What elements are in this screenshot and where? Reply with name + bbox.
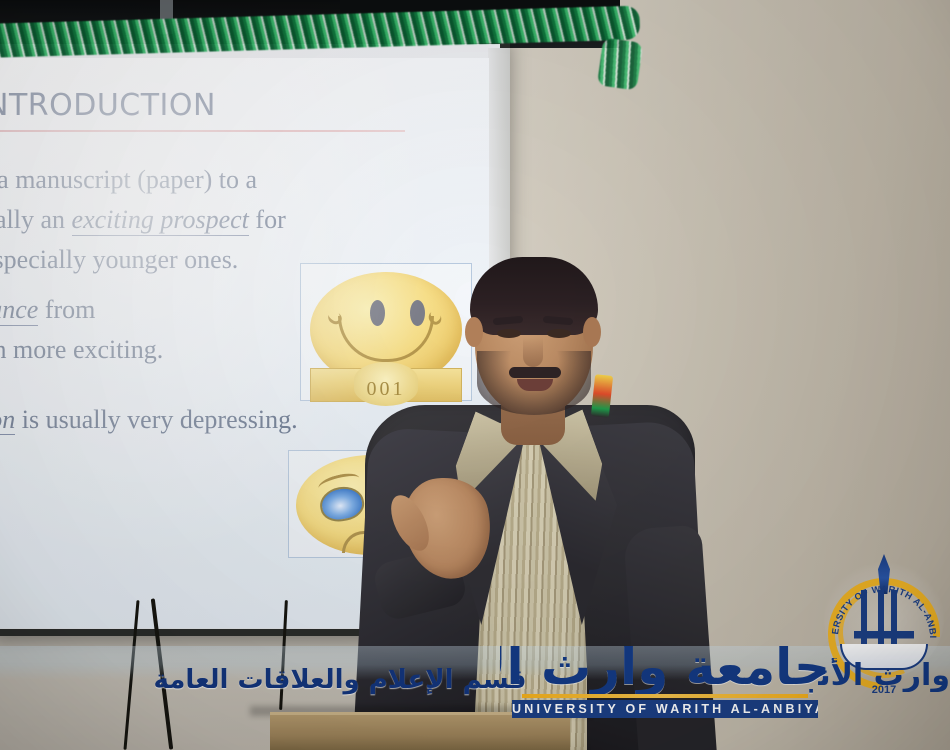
moustache — [509, 367, 561, 378]
hair — [470, 257, 598, 335]
presentation-photo: NTRODUCTION f a manuscript (paper) to a … — [0, 0, 950, 750]
emblem-curved-label: UNIVERSITY OF WARITH AL-ANBIYAA — [828, 576, 938, 639]
left-ear — [465, 317, 483, 347]
slide-line-2-italic: exciting prospect — [72, 205, 249, 236]
slide-line-1: f a manuscript (paper) to a — [0, 160, 442, 200]
university-name-english: UNIVERSITY OF WARITH AL-ANBIYAA — [512, 700, 818, 718]
slide-depress-italic: ion — [0, 405, 15, 435]
slide-line-4-tail: from — [38, 295, 95, 324]
right-ear — [583, 317, 601, 347]
slide-line-4-italic: tance — [0, 295, 38, 326]
svg-text:UNIVERSITY OF WARITH AL-ANBIYA: UNIVERSITY OF WARITH AL-ANBIYAA — [828, 576, 938, 639]
slide-title-underline — [0, 130, 405, 132]
department-caption: قسم الإعلام والعلاقات العامة — [130, 665, 550, 705]
university-emblem: UNIVERSITY OF WARITH AL-ANBIYAA وارث الأ… — [818, 552, 950, 692]
tinsel-garland-tail — [597, 37, 643, 90]
emblem-founded-year: 2017 — [856, 684, 912, 696]
slide-title: NTRODUCTION — [0, 88, 286, 123]
slide-line-2: ually an exciting prospect for — [0, 200, 442, 240]
university-logo: جامعة وارث الأنبياء UNIVERSITY OF WARITH… — [500, 636, 830, 726]
university-name-arabic: جامعة وارث الأنبياء — [500, 638, 830, 696]
slide-depress-tail: is usually very depressing. — [15, 405, 297, 434]
left-eye — [497, 329, 521, 338]
slide-line-2-tail: for — [249, 205, 286, 234]
right-eye — [547, 329, 571, 338]
slide-line-2-prefix: ually an — [0, 205, 72, 234]
logo-gold-underline — [522, 694, 808, 698]
